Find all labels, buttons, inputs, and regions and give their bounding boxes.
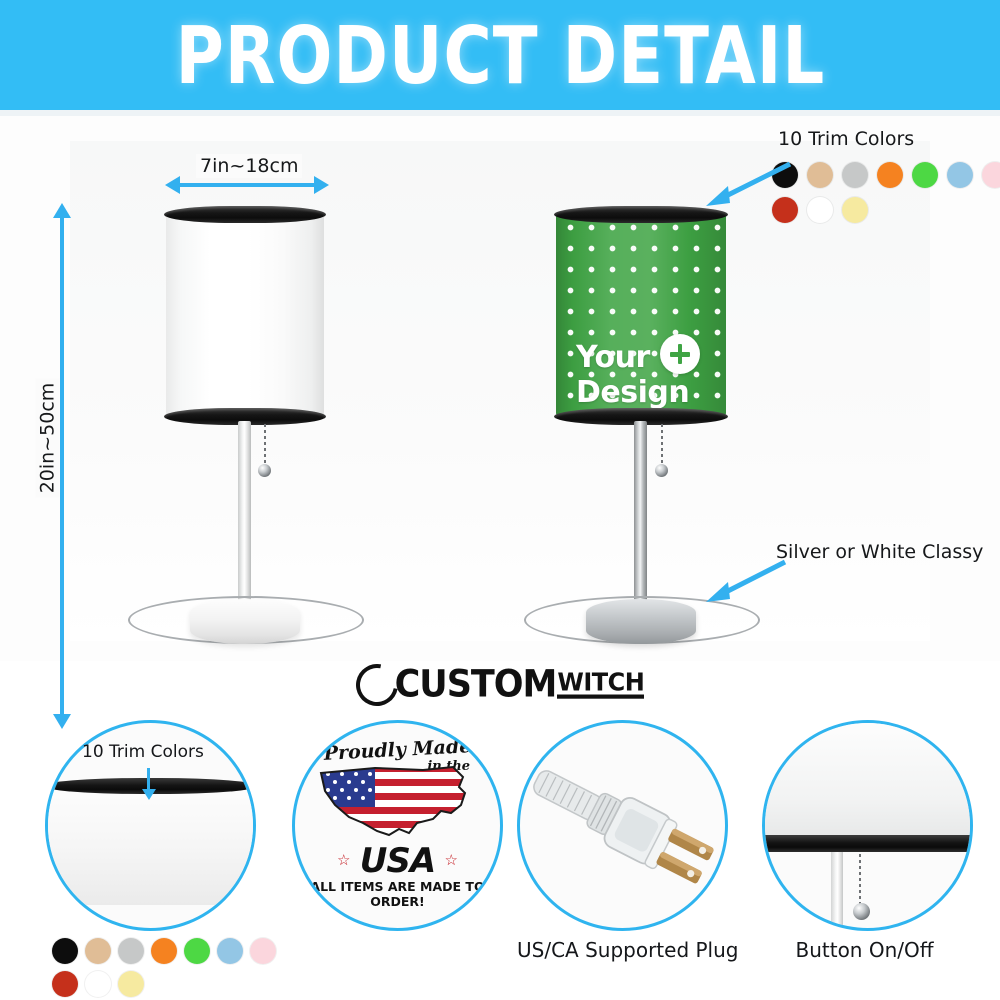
trim-swatch-tan[interactable]	[807, 162, 833, 188]
trim-swatch-orange[interactable]	[151, 938, 177, 964]
button-feature-circle	[762, 720, 973, 931]
trim-swatch-pink[interactable]	[250, 938, 276, 964]
trim-colors-inner-label: 10 Trim Colors	[82, 742, 204, 762]
white-lamp-top-trim	[164, 206, 326, 223]
trim-swatch-green[interactable]	[184, 938, 210, 964]
trim-swatch-red[interactable]	[52, 971, 78, 997]
design-line-1: Your	[576, 340, 650, 375]
trim-swatch-gray[interactable]	[118, 938, 144, 964]
shade-bottom-closeup	[762, 720, 973, 835]
height-measurement-arrow	[60, 216, 64, 716]
trim-swatch-black[interactable]	[52, 938, 78, 964]
trim-swatch-yellow[interactable]	[118, 971, 144, 997]
green-lamp-shade[interactable]: Your Design	[556, 212, 726, 417]
silver-lamp-base	[586, 599, 696, 644]
white-shade-surface	[166, 212, 324, 417]
trim-swatch-white[interactable]	[85, 971, 111, 997]
trim-swatch-white[interactable]	[807, 197, 833, 223]
green-lamp-pull-chain[interactable]	[661, 424, 663, 466]
button-feature-label: Button On/Off	[762, 938, 967, 962]
plug-svg	[520, 723, 725, 928]
trim-swatch-light-blue[interactable]	[217, 938, 243, 964]
trim-swatch-pink[interactable]	[982, 162, 1000, 188]
height-measurement-label: 20in~50cm	[35, 379, 59, 498]
logo-primary-text: CUSTOM	[395, 664, 557, 706]
star-icon-right: ☆	[445, 851, 458, 869]
trim-color-swatch-row[interactable]	[772, 162, 1000, 223]
brand-logo: CUSTOM WITCH	[0, 662, 1000, 708]
pull-chain-ball-closeup[interactable]	[853, 903, 870, 920]
white-lamp-pull-chain[interactable]	[264, 424, 266, 466]
arrow-icon	[700, 556, 790, 606]
trim-swatch-orange[interactable]	[877, 162, 903, 188]
shade-closeup	[46, 785, 255, 905]
trim-swatch-yellow[interactable]	[842, 197, 868, 223]
plug-feature-label: US/CA Supported Plug	[517, 938, 722, 962]
white-lamp-pole	[238, 421, 251, 621]
base-finish-pointer-arrow	[700, 556, 790, 611]
plus-badge-icon[interactable]	[660, 334, 700, 374]
trim-swatch-light-blue[interactable]	[947, 162, 973, 188]
plug-feature-circle	[517, 720, 728, 931]
usa-flag-map-icon	[313, 759, 483, 852]
white-lamp-chain-ball[interactable]	[258, 464, 271, 477]
power-plug-icon	[520, 723, 725, 931]
made-in-usa-feature-circle: Proudly Made in the	[292, 720, 503, 931]
trim-swatch-gray[interactable]	[842, 162, 868, 188]
width-measurement-label: 7in~18cm	[196, 154, 302, 178]
white-lamp-shade	[166, 212, 324, 417]
trim-colors-inner-arrow	[147, 768, 150, 790]
trim-colors-callout-label: 10 Trim Colors	[778, 128, 914, 150]
arrow-icon	[700, 158, 795, 208]
pull-chain-closeup[interactable]	[859, 854, 861, 906]
trim-swatch-tan[interactable]	[85, 938, 111, 964]
usa-map-svg	[313, 759, 483, 847]
trim-closeup	[762, 835, 973, 852]
white-lamp-base	[190, 599, 300, 644]
bottom-trim-color-swatch-row[interactable]	[52, 938, 292, 997]
your-design-text: Your Design	[576, 340, 726, 410]
base-finish-callout-label: Silver or White Classy	[776, 541, 983, 563]
main-product-panel: 7in~18cm 20in~50cm Your	[0, 116, 1000, 661]
silver-lamp-pole	[634, 421, 647, 621]
usa-badge-word: USA	[295, 841, 500, 881]
design-line-2: Design	[576, 375, 689, 410]
page-title: PRODUCT DETAIL	[175, 8, 825, 101]
pull-chain-switch-icon	[765, 723, 970, 928]
pole-closeup	[831, 852, 843, 931]
green-lamp-chain-ball[interactable]	[655, 464, 668, 477]
product-detail-page: PRODUCT DETAIL 7in~18cm 20in~50cm	[0, 0, 1000, 1000]
trim-colors-pointer-arrow	[700, 158, 795, 213]
logo-secondary-text: WITCH	[557, 669, 644, 698]
trim-swatch-green[interactable]	[912, 162, 938, 188]
usa-badge-subtitle: ALL ITEMS ARE MADE TO ORDER!	[295, 879, 500, 909]
width-measurement-arrow	[178, 183, 316, 187]
page-header-banner: PRODUCT DETAIL	[0, 0, 1000, 110]
